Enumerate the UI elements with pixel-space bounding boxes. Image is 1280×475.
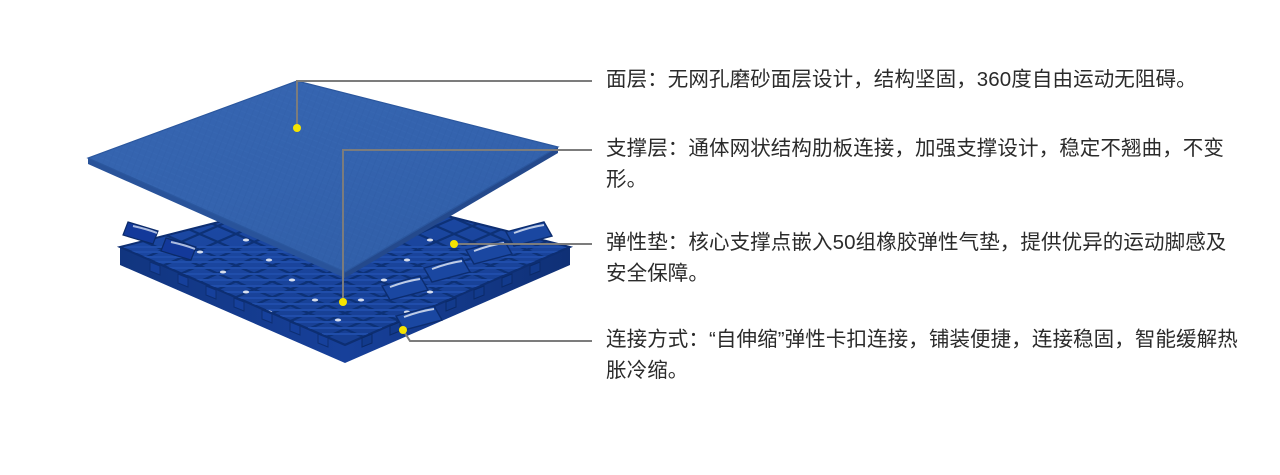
callout-support: 支撑层：通体网状结构肋板连接，加强支撑设计，稳定不翘曲，不变形。 bbox=[606, 133, 1246, 195]
callout-elastic-pad: 弹性垫：核心支撑点嵌入50组橡胶弹性气垫，提供优异的运动脚感及安全保障。 bbox=[606, 227, 1246, 289]
diagram-page: 面层：无网孔磨砂面层设计，结构坚固，360度自由运动无阻碍。 支撑层：通体网状结… bbox=[0, 0, 1280, 475]
callout-connector: 连接方式：“自伸缩”弹性卡扣连接，铺装便捷，连接稳固，智能缓解热胀冷缩。 bbox=[606, 324, 1246, 386]
marker-dot-connector bbox=[399, 326, 407, 334]
marker-dot-elastic-pad bbox=[450, 240, 458, 248]
marker-dot-surface bbox=[293, 124, 301, 132]
marker-dot-support bbox=[339, 298, 347, 306]
callout-surface: 面层：无网孔磨砂面层设计，结构坚固，360度自由运动无阻碍。 bbox=[606, 64, 1246, 95]
